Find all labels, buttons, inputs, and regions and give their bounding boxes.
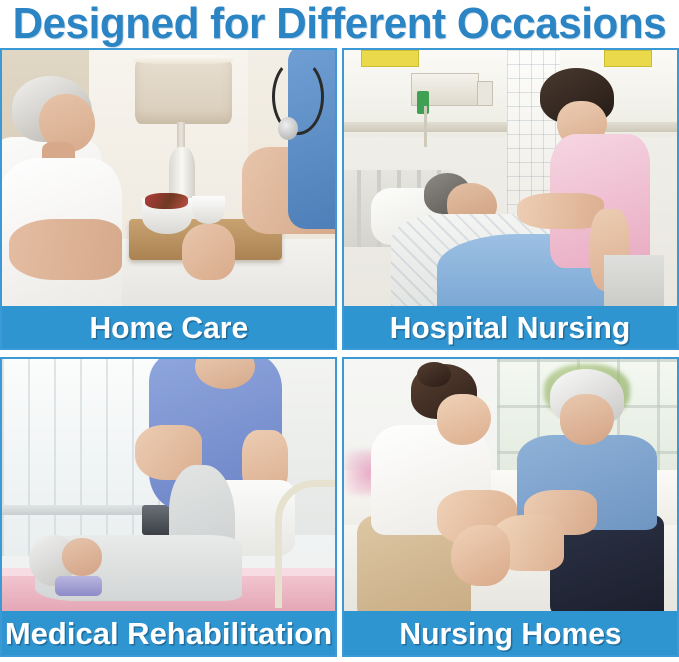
photo-hospital-nursing	[344, 50, 677, 306]
occasion-label-home-care: Home Care	[89, 312, 248, 343]
elderly-woman-arm	[9, 219, 122, 280]
caregiver-hair-bun	[417, 362, 450, 387]
label-bar-nursing-homes: Nursing Homes	[344, 611, 677, 655]
label-bar-medical-rehabilitation: Medical Rehabilitation	[2, 611, 335, 655]
occasion-card-medical-rehabilitation[interactable]: Medical Rehabilitation	[0, 357, 337, 657]
wall-outlet	[477, 81, 492, 106]
caregiver-face	[437, 394, 490, 444]
occasion-label-medical-rehabilitation: Medical Rehabilitation	[5, 618, 332, 649]
poster-title-bar: Designed for Different Occasions	[0, 0, 679, 48]
resident-foot	[451, 525, 511, 585]
label-bar-hospital-nursing: Hospital Nursing	[344, 306, 677, 348]
photo-home-care	[2, 50, 335, 306]
occasion-card-home-care[interactable]: Home Care	[0, 48, 337, 350]
photo-medical-rehabilitation	[2, 359, 335, 611]
lamp-shade	[135, 58, 232, 125]
caregiver-hand	[182, 224, 235, 280]
yellow-warning-sign-left	[361, 50, 420, 67]
label-bar-home-care: Home Care	[2, 306, 335, 348]
occasion-card-nursing-homes[interactable]: Nursing Homes	[342, 357, 679, 657]
poster-root: Designed for Different Occasions	[0, 0, 679, 662]
photo-nursing-homes	[344, 359, 677, 611]
second-bowl	[192, 196, 225, 224]
fruit-food	[145, 193, 188, 208]
resident-face	[560, 394, 613, 444]
occasion-card-hospital-nursing[interactable]: Hospital Nursing	[342, 48, 679, 350]
page-title: Designed for Different Occasions	[13, 2, 667, 46]
rehab-bed-rail	[275, 480, 335, 608]
purple-head-bolster	[55, 576, 102, 596]
occasion-label-hospital-nursing: Hospital Nursing	[390, 312, 631, 343]
gas-tube	[424, 106, 427, 147]
stethoscope-diaphragm-icon	[278, 117, 298, 140]
yellow-warning-sign-right	[604, 50, 653, 67]
occasion-label-nursing-homes: Nursing Homes	[399, 618, 621, 649]
rehab-patient-face	[62, 538, 102, 576]
nurse-trousers	[604, 255, 664, 306]
occasion-grid: Home Care	[0, 48, 679, 657]
